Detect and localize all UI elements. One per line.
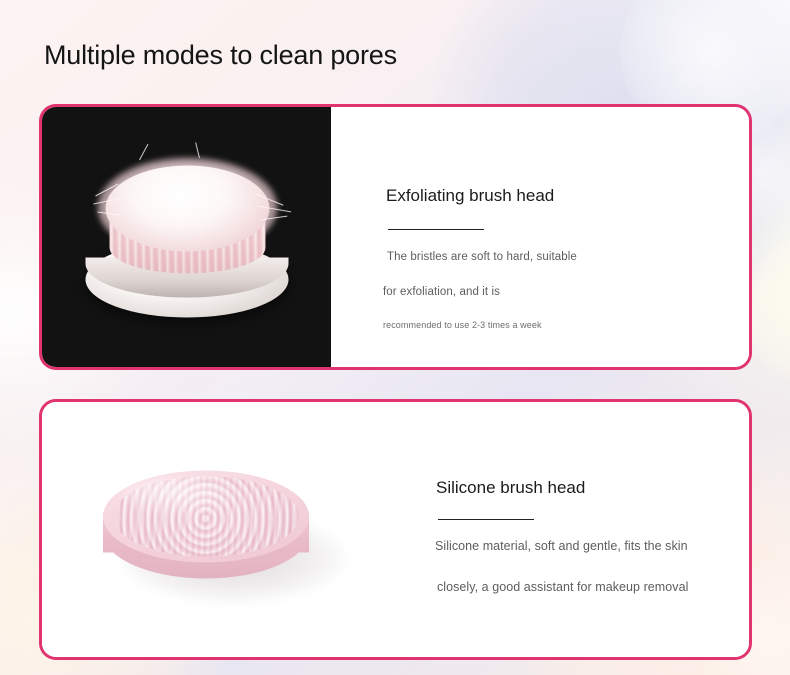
silicone-brush-head-text: Silicone brush head Silicone material, s… xyxy=(397,402,749,657)
silicone-brush-head-photo xyxy=(42,402,397,657)
exfoliating-brush-illustration xyxy=(79,150,294,325)
silicone-brush-illustration xyxy=(95,452,345,607)
card-description: Silicone material, soft and gentle, fits… xyxy=(435,538,688,596)
card-heading: Silicone brush head xyxy=(436,478,585,498)
page-title: Multiple modes to clean pores xyxy=(44,38,397,72)
card-heading: Exfoliating brush head xyxy=(386,186,554,206)
stray-bristle-7 xyxy=(139,144,148,160)
feature-card-exfoliating-brush-head[interactable]: Exfoliating brush head The bristles are … xyxy=(39,104,752,370)
description-line: recommended to use 2-3 times a week xyxy=(383,319,577,332)
description-line: The bristles are soft to hard, suitable xyxy=(387,249,577,265)
exfoliating-brush-head-text: Exfoliating brush head The bristles are … xyxy=(331,107,749,367)
card-description: The bristles are soft to hard, suitable … xyxy=(387,249,577,332)
product-feature-page: Multiple modes to clean pores Exfoliatin… xyxy=(0,0,790,675)
description-line: for exfoliation, and it is xyxy=(383,284,577,300)
description-line: Silicone material, soft and gentle, fits… xyxy=(435,538,688,555)
bristle-top-surface xyxy=(105,166,269,252)
heading-divider xyxy=(388,229,484,230)
feature-card-silicone-brush-head[interactable]: Silicone brush head Silicone material, s… xyxy=(39,399,752,660)
exfoliating-brush-head-photo xyxy=(42,107,331,367)
description-line: closely, a good assistant for makeup rem… xyxy=(437,579,688,596)
stray-bristle-8 xyxy=(195,142,200,158)
heading-divider xyxy=(438,519,534,520)
silicone-highlight xyxy=(121,476,241,516)
